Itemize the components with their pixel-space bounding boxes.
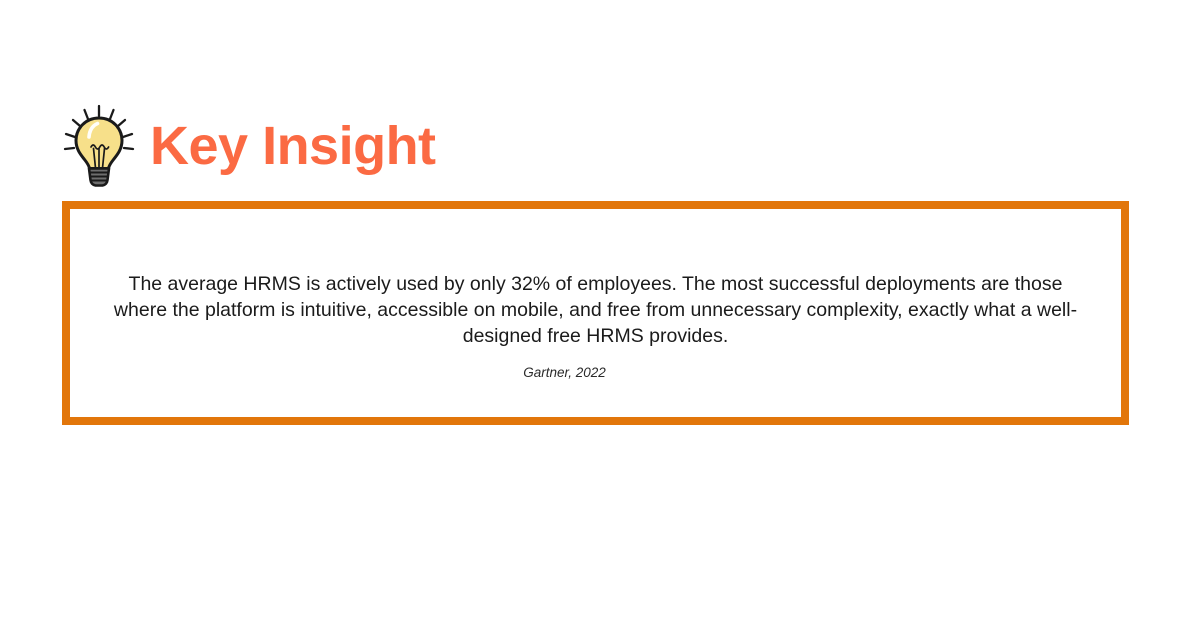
callout-source-attribution: Gartner, 2022: [523, 365, 606, 380]
lightbulb-icon: [62, 104, 136, 188]
slide-canvas: Key Insight The average HRMS is actively…: [0, 0, 1200, 627]
key-insight-callout-box: The average HRMS is actively used by onl…: [62, 201, 1129, 425]
callout-content: The average HRMS is actively used by onl…: [70, 209, 1121, 417]
callout-body-text: The average HRMS is actively used by onl…: [112, 271, 1080, 349]
page-title: Key Insight: [150, 119, 436, 173]
key-insight-header: Key Insight: [62, 104, 436, 188]
